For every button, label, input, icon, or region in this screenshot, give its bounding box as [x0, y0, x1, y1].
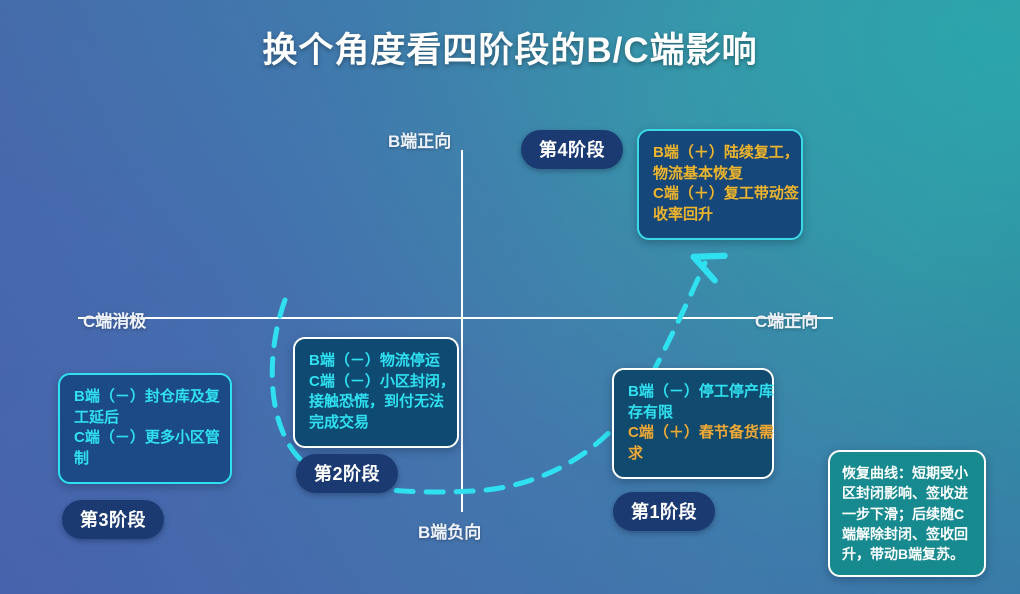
info-line: B端（－）物流停运 — [309, 351, 444, 372]
info-box-stage3: B端（－）封仓库及复 工延后 C端（－）更多小区管 制 — [58, 373, 232, 484]
info-line: C端（－）小区封闭， — [309, 372, 444, 393]
note-line: 恢复曲线：短期受小 — [842, 463, 974, 483]
infographic-canvas: 换个角度看四阶段的B/C端影响 B端正向 B端负向 C端消极 C端正向 B端（＋… — [0, 0, 1020, 594]
info-line: 收率回升 — [653, 205, 788, 226]
axis-label-b-positive: B端正向 — [388, 127, 451, 152]
info-line: 完成交易 — [309, 413, 444, 434]
info-line: C端（－）更多小区管 — [74, 428, 217, 449]
note-line: 一步下滑；后续随C — [842, 504, 974, 524]
info-line: 接触恐慌，到付无法 — [309, 392, 444, 413]
info-line: 物流基本恢复 — [653, 164, 788, 185]
info-line: B端（－）停工停产库 — [628, 382, 759, 403]
info-line: 存有限 — [628, 403, 759, 424]
stage-badge-3[interactable]: 第3阶段 — [62, 500, 164, 539]
axis-label-c-positive: C端正向 — [755, 307, 818, 332]
info-box-stage2: B端（－）物流停运 C端（－）小区封闭， 接触恐慌，到付无法 完成交易 — [293, 337, 459, 448]
page-title: 换个角度看四阶段的B/C端影响 — [0, 22, 1020, 73]
info-line: B端（－）封仓库及复 — [74, 387, 217, 408]
note-line: 升，带动B端复苏。 — [842, 544, 974, 564]
info-box-recovery-note: 恢复曲线：短期受小 区封闭影响、签收进 一步下滑；后续随C 端解除封闭、签收回 … — [828, 450, 986, 577]
stage-badge-2[interactable]: 第2阶段 — [296, 454, 398, 493]
info-box-stage1: B端（－）停工停产库 存有限 C端（＋）春节备货需 求 — [612, 368, 774, 479]
axis-vertical-line — [461, 150, 463, 512]
stage-badge-1[interactable]: 第1阶段 — [613, 492, 715, 531]
axis-label-c-negative: C端消极 — [83, 307, 146, 332]
stage-badge-4[interactable]: 第4阶段 — [521, 130, 623, 169]
note-line: 区封闭影响、签收进 — [842, 483, 974, 503]
info-line: 工延后 — [74, 408, 217, 429]
info-line: 求 — [628, 444, 759, 465]
axis-label-b-negative: B端负向 — [418, 518, 481, 543]
info-line: 制 — [74, 449, 217, 470]
info-line: C端（＋）复工带动签 — [653, 184, 788, 205]
info-box-stage4: B端（＋）陆续复工， 物流基本恢复 C端（＋）复工带动签 收率回升 — [637, 129, 803, 240]
note-line: 端解除封闭、签收回 — [842, 524, 974, 544]
info-line: B端（＋）陆续复工， — [653, 143, 788, 164]
info-line: C端（＋）春节备货需 — [628, 423, 759, 444]
